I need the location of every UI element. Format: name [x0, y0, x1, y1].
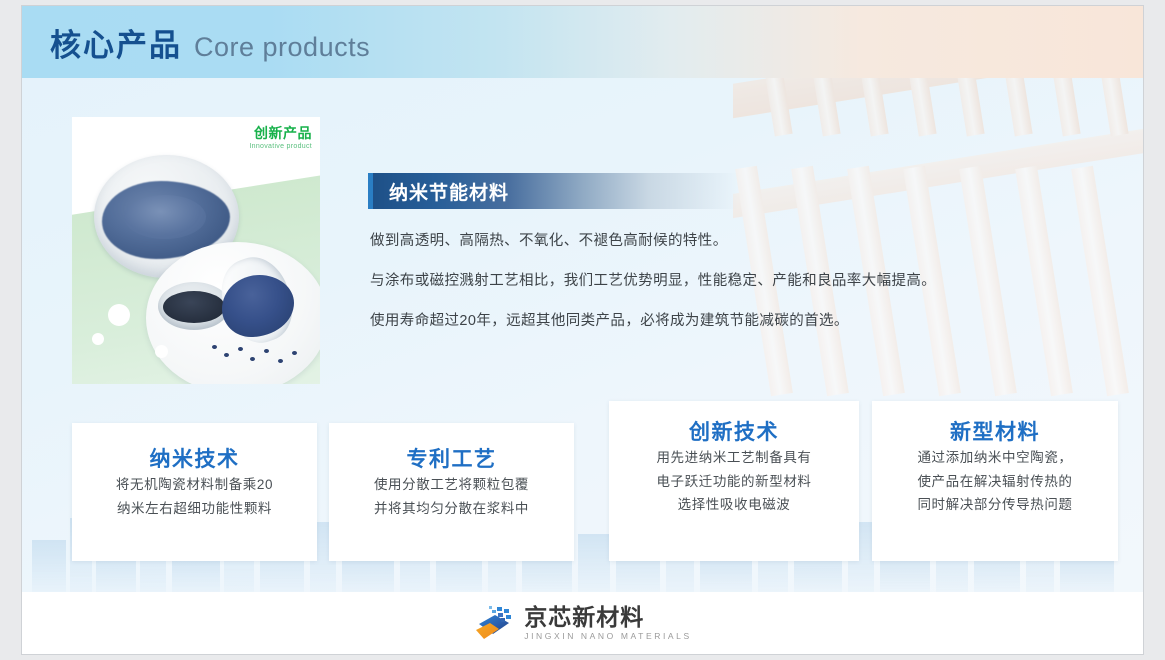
blue-powder-highlight — [124, 195, 206, 239]
slide-page: 核心产品 Core products — [22, 6, 1143, 654]
feature-card-line: 并将其均匀分散在浆料中 — [329, 497, 574, 521]
feature-card-title: 新型材料 — [872, 416, 1118, 446]
header-band: 核心产品 Core products — [22, 6, 1143, 78]
logo-mark-icon — [473, 604, 515, 642]
feature-card-line: 纳米左右超细功能性颗料 — [72, 497, 317, 521]
body-paragraph: 使用寿命超过20年，远超其他同类产品，必将成为建筑节能减碳的首选。 — [370, 311, 1070, 333]
logo-text: 京芯新材料 JINGXIN NANO MATERIALS — [524, 606, 692, 641]
feature-card-line: 使产品在解决辐射传热的 — [872, 470, 1118, 494]
petri-dish-small — [158, 282, 230, 330]
page-title: 核心产品 Core products — [50, 20, 370, 65]
section-body: 做到高透明、高隔热、不氧化、不褪色高耐候的特性。 与涂布或磁控溅射工艺相比，我们… — [370, 231, 1070, 350]
feature-card-title: 专利工艺 — [329, 443, 574, 473]
decor-circle-2 — [92, 333, 104, 345]
feature-card-title: 纳米技术 — [72, 443, 317, 473]
logo-name-en: JINGXIN NANO MATERIALS — [524, 632, 692, 641]
feature-card-line: 电子跃迁功能的新型材料 — [609, 470, 859, 494]
slide: 核心产品 Core products — [0, 0, 1165, 660]
feature-card-title: 创新技术 — [609, 416, 859, 446]
section-title-banner: 纳米节能材料 — [368, 173, 738, 209]
badge-label-en: Innovative product — [249, 143, 312, 151]
feature-cards: 纳米技术 将无机陶瓷材料制备乘20 纳米左右超细功能性颗料 专利工艺 使用分散工… — [72, 401, 1118, 546]
footer: 京芯新材料 JINGXIN NANO MATERIALS — [22, 592, 1143, 654]
page-title-cn: 核心产品 — [50, 20, 182, 65]
feature-card[interactable]: 专利工艺 使用分散工艺将颗粒包覆 并将其均匀分散在浆料中 — [329, 423, 574, 561]
feature-card[interactable]: 纳米技术 将无机陶瓷材料制备乘20 纳米左右超细功能性颗料 — [72, 423, 317, 561]
feature-card[interactable]: 新型材料 通过添加纳米中空陶瓷， 使产品在解决辐射传热的 同时解决部分传导热问题 — [872, 401, 1118, 561]
page-title-en: Core products — [194, 32, 370, 63]
logo-name-cn: 京芯新材料 — [524, 606, 692, 629]
company-logo: 京芯新材料 JINGXIN NANO MATERIALS — [473, 604, 692, 642]
body-paragraph: 与涂布或磁控溅射工艺相比，我们工艺优势明显，性能稳定、产能和良品率大幅提高。 — [370, 271, 1070, 293]
product-image: 创新产品 Innovative product — [72, 117, 320, 384]
decor-circle-1 — [108, 304, 130, 326]
feature-card-line: 将无机陶瓷材料制备乘20 — [72, 473, 317, 497]
section-title-text: 纳米节能材料 — [389, 178, 509, 205]
body-paragraph: 做到高透明、高隔热、不氧化、不褪色高耐候的特性。 — [370, 231, 1070, 253]
decor-circle-3 — [155, 345, 168, 358]
feature-card[interactable]: 创新技术 用先进纳米工艺制备具有 电子跃迁功能的新型材料 选择性吸收电磁波 — [609, 401, 859, 561]
feature-card-line: 通过添加纳米中空陶瓷， — [872, 446, 1118, 470]
badge-label-cn: 创新产品 — [249, 125, 312, 141]
feature-card-line: 用先进纳米工艺制备具有 — [609, 446, 859, 470]
dark-pellets — [163, 291, 225, 323]
feature-card-line: 选择性吸收电磁波 — [609, 493, 859, 517]
feature-card-line: 同时解决部分传导热问题 — [872, 493, 1118, 517]
innovative-product-badge: 创新产品 Innovative product — [249, 125, 312, 151]
feature-card-line: 使用分散工艺将颗粒包覆 — [329, 473, 574, 497]
